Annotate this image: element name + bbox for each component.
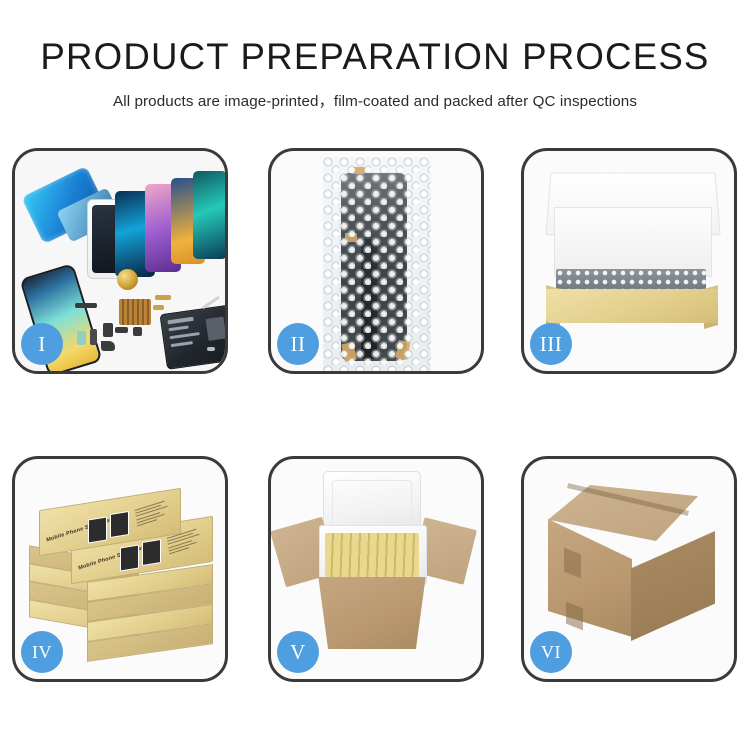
page-header: PRODUCT PREPARATION PROCESS All products… xyxy=(0,0,750,111)
page-subtitle: All products are image-printed，film-coat… xyxy=(0,75,750,111)
step-card-4[interactable]: Mobile Phone Spare Parts Mobile Phone Sp… xyxy=(12,456,228,682)
step-badge-1: I xyxy=(21,323,63,365)
process-steps-grid: I II III xyxy=(0,140,750,690)
step-card-5[interactable]: V xyxy=(268,456,484,682)
step-card-2[interactable]: II xyxy=(268,148,484,374)
step-badge-6: VI xyxy=(530,631,572,673)
page-title: PRODUCT PREPARATION PROCESS xyxy=(4,38,747,75)
step-badge-2: II xyxy=(277,323,319,365)
step-card-6[interactable]: VI xyxy=(521,456,737,682)
step-badge-5: V xyxy=(277,631,319,673)
step-card-1[interactable]: I xyxy=(12,148,228,374)
step-card-3[interactable]: III xyxy=(521,148,737,374)
step-badge-3: III xyxy=(530,323,572,365)
step-badge-4: IV xyxy=(21,631,63,673)
